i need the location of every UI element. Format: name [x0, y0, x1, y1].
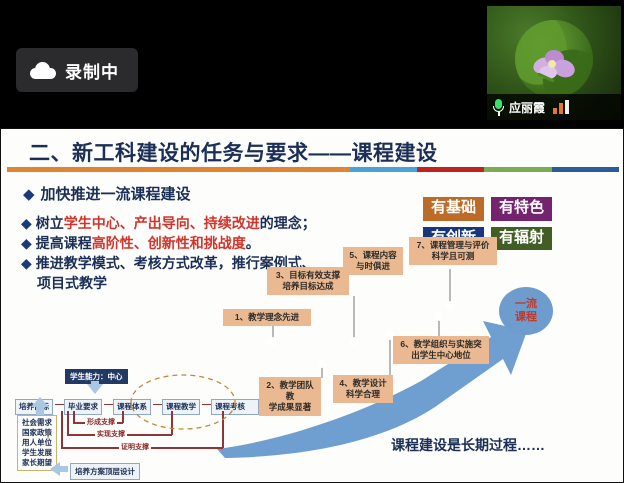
chain-connector — [104, 404, 113, 405]
microphone-icon[interactable] — [493, 99, 504, 116]
tag-radiation: 有辐射 — [491, 227, 552, 251]
support-label-2: 实现支撑 — [95, 429, 127, 439]
flow-target-badge: 一流 课程 — [499, 287, 553, 335]
flow-dot — [349, 337, 358, 346]
video-conference-bar: 录制中 应丽霞 — [0, 0, 624, 128]
flow-node-3: 3、目标有效支撑 培养目标达成 — [267, 267, 349, 295]
slide-heading: ◆加快推进一流课程建设 — [23, 183, 191, 204]
tag-basis: 有基础 — [423, 197, 484, 221]
screen: 录制中 应丽霞 二、新工科建设的任务与要求——课程建设 — [0, 0, 624, 483]
flow-node-6: 6、教学组织与实施突 出学生中心地位 — [393, 336, 489, 364]
participant-video-tile[interactable]: 应丽霞 — [487, 6, 621, 120]
bullet-highlight: 学生中心、产出导向、持续改进 — [64, 215, 260, 231]
diamond-bullet-icon: ◆ — [21, 235, 32, 251]
title-divider-bar — [7, 167, 619, 172]
participant-name-strip: 应丽霞 — [487, 94, 621, 120]
diamond-bullet-icon: ◆ — [23, 186, 35, 203]
audio-bars-icon — [553, 100, 569, 114]
flow-node-7: 7、课程管理与评价 科学且可测 — [409, 237, 497, 265]
support-line — [67, 411, 69, 435]
chain-connector — [55, 404, 64, 405]
avatar — [515, 20, 593, 98]
slide-title: 二、新工科建设的任务与要求——课程建设 — [29, 137, 438, 167]
bullet-item: ◆提高课程高阶性、创新性和挑战度。 — [21, 233, 316, 253]
flow-node-2: 2、教学团队教 学成果显著 — [259, 377, 321, 416]
flow-dot — [445, 301, 454, 310]
course-building-flow-diagram: 1、教学理念先进 2、教学团队教 学成果显著 3、目标有效支撑 培养目标达成 4… — [211, 259, 624, 459]
plan-label: 培养方案顶层设计 — [70, 463, 140, 480]
connector-line — [449, 269, 451, 305]
flow-dot — [317, 359, 326, 368]
support-label-1: 形成支撑 — [85, 417, 117, 427]
recording-badge: 录制中 — [16, 48, 138, 92]
connector-line — [389, 336, 391, 375]
connector-line — [353, 296, 355, 341]
support-label-3: 证明支撑 — [119, 442, 151, 452]
support-line — [61, 411, 63, 448]
flow-dot — [434, 312, 443, 321]
arrow-stem — [36, 406, 44, 415]
recording-label: 录制中 — [65, 58, 119, 83]
presentation-slide: 二、新工科建设的任务与要求——课程建设 ◆加快推进一流课程建设 ◆树立学生中心、… — [0, 128, 624, 483]
bullet-highlight: 高阶性、创新性和挑战度 — [92, 235, 246, 251]
dashed-ellipse-highlight — [137, 373, 229, 431]
down-arrow-icon — [87, 384, 103, 394]
arrow-stem — [59, 466, 68, 472]
left-arrow-icon — [50, 462, 60, 476]
flow-node-5: 5、课程内容 与时俱进 — [343, 247, 403, 275]
bullet-post: 。 — [246, 235, 260, 251]
cloud-icon — [30, 62, 56, 79]
slide-heading-text: 加快推进一流课程建设 — [41, 186, 191, 203]
participant-name: 应丽霞 — [509, 99, 545, 116]
up-arrow-icon — [31, 397, 49, 407]
chain-box-requirement: 毕业要求 — [64, 399, 102, 415]
tag-feature: 有特色 — [491, 197, 552, 221]
flow-node-1: 1、教学理念先进 — [223, 309, 311, 326]
curriculum-support-diagram: 学生能力：中心 培养目标 毕业要求 课程体系 课程教学 课程考核 形成支撑 实现… — [7, 367, 219, 479]
flower-shape — [531, 48, 577, 82]
bullet-item: ◆树立学生中心、产出导向、持续改进的理念； — [21, 213, 316, 233]
flow-dot — [268, 337, 277, 346]
diamond-bullet-icon: ◆ — [21, 255, 32, 271]
bullet-pre: 提高课程 — [36, 235, 92, 251]
flow-node-4: 4、教学设计 科学合理 — [333, 375, 393, 403]
bullet-post: 的理念； — [260, 215, 316, 231]
diamond-bullet-icon: ◆ — [21, 215, 32, 231]
bullet-pre: 树立 — [36, 215, 64, 231]
slide-footnote: 课程建设是长期过程…… — [391, 435, 545, 455]
